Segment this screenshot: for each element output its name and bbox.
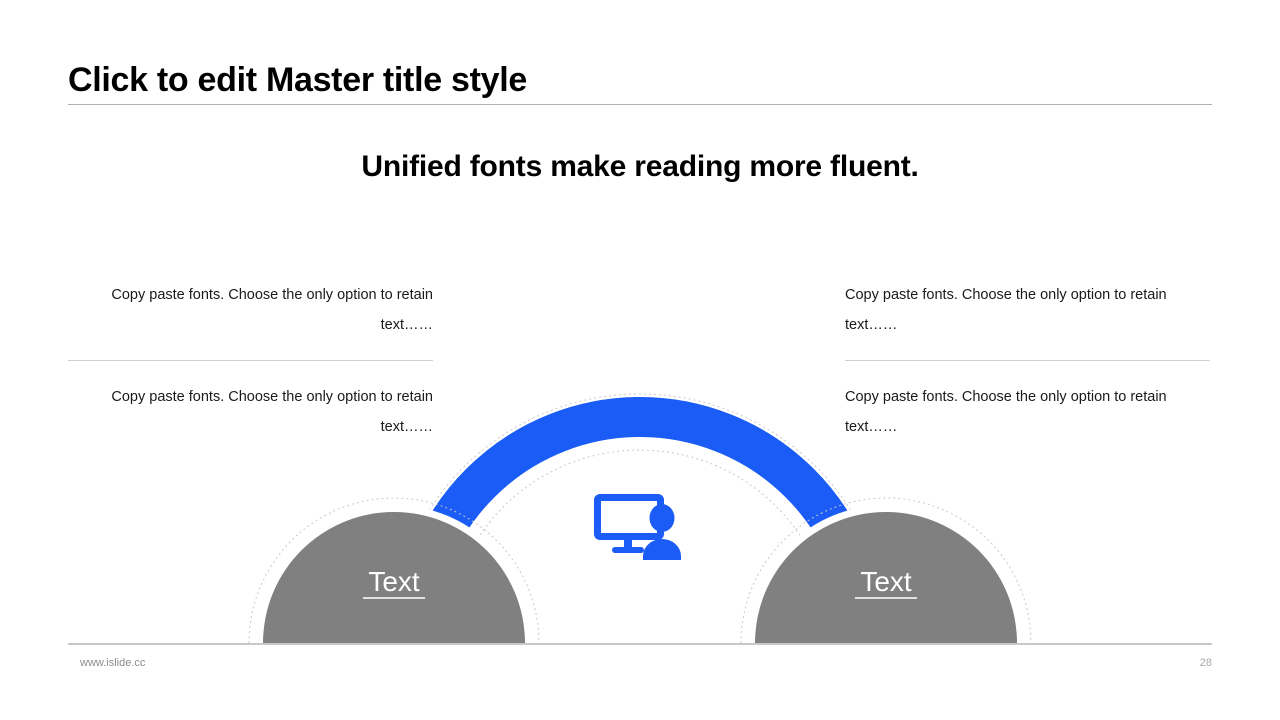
left-semicircle[interactable] xyxy=(263,512,525,643)
slide-subtitle[interactable]: Unified fonts make reading more fluent. xyxy=(0,145,1280,189)
left-semicircle-label[interactable]: Text xyxy=(368,566,420,597)
dotted-guide-arc-inner xyxy=(447,450,833,643)
right-semicircle-halo xyxy=(748,505,1024,643)
divider-right xyxy=(845,360,1210,361)
dotted-guide-arc-outer xyxy=(391,394,889,643)
page-title[interactable]: Click to edit Master title style xyxy=(68,58,1212,102)
text-block-right-2[interactable]: Copy paste fonts. Choose the only option… xyxy=(845,382,1210,442)
right-semicircle[interactable] xyxy=(755,512,1017,643)
left-semicircle-halo xyxy=(256,505,532,643)
text-block-right-1[interactable]: Copy paste fonts. Choose the only option… xyxy=(845,280,1210,340)
monitor-user-icon[interactable] xyxy=(594,494,681,560)
dotted-guide-arc-left xyxy=(249,498,539,643)
text-block-left-1[interactable]: Copy paste fonts. Choose the only option… xyxy=(68,280,433,340)
page-number: 28 xyxy=(1140,657,1212,669)
footer-url[interactable]: www.islide.cc xyxy=(80,657,145,669)
right-semicircle-label[interactable]: Text xyxy=(860,566,912,597)
slide-canvas: Click to edit Master title style Unified… xyxy=(0,0,1280,720)
title-divider xyxy=(68,104,1212,105)
footer-divider xyxy=(68,643,1212,645)
divider-left xyxy=(68,360,433,361)
blue-accent-arc xyxy=(414,417,866,643)
text-block-left-2[interactable]: Copy paste fonts. Choose the only option… xyxy=(68,382,433,442)
dotted-guide-arc-right xyxy=(741,498,1031,643)
